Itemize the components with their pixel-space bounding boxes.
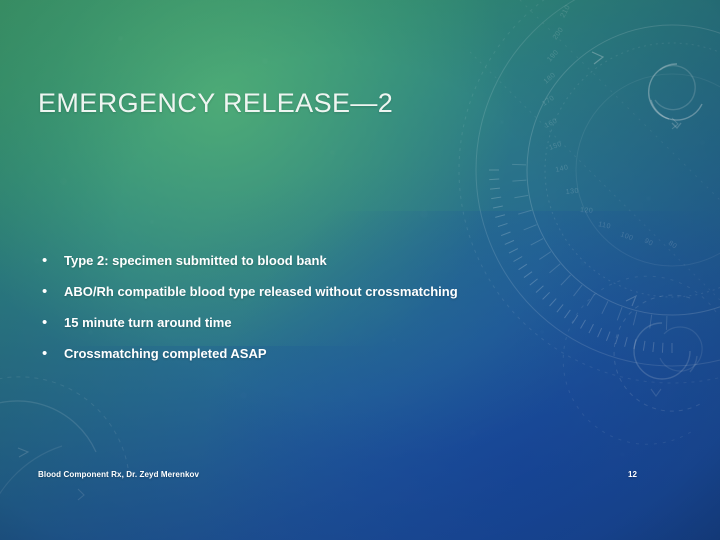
footer-credit: Blood Component Rx, Dr. Zeyd Merenkov xyxy=(38,470,199,479)
list-item: • 15 minute turn around time xyxy=(38,314,638,345)
list-item: • Type 2: specimen submitted to blood ba… xyxy=(38,252,638,283)
slide-number: 12 xyxy=(628,470,637,479)
list-item-label: Crossmatching completed ASAP xyxy=(54,345,638,363)
list-item: • ABO/Rh compatible blood type released … xyxy=(38,283,638,314)
list-item: • Crossmatching completed ASAP xyxy=(38,345,638,376)
list-item-label: ABO/Rh compatible blood type released wi… xyxy=(54,283,638,301)
slide-canvas: 210 200 190 180 170 160 150 140 130 120 … xyxy=(0,0,720,540)
page-title: EMERGENCY RELEASE—2 xyxy=(38,88,393,119)
bullet-point-icon: • xyxy=(38,283,54,301)
bullet-list: • Type 2: specimen submitted to blood ba… xyxy=(38,252,638,376)
bullet-point-icon: • xyxy=(38,345,54,363)
bullet-point-icon: • xyxy=(38,252,54,270)
list-item-label: 15 minute turn around time xyxy=(54,314,638,332)
list-item-label: Type 2: specimen submitted to blood bank xyxy=(54,252,638,270)
bullet-point-icon: • xyxy=(38,314,54,332)
